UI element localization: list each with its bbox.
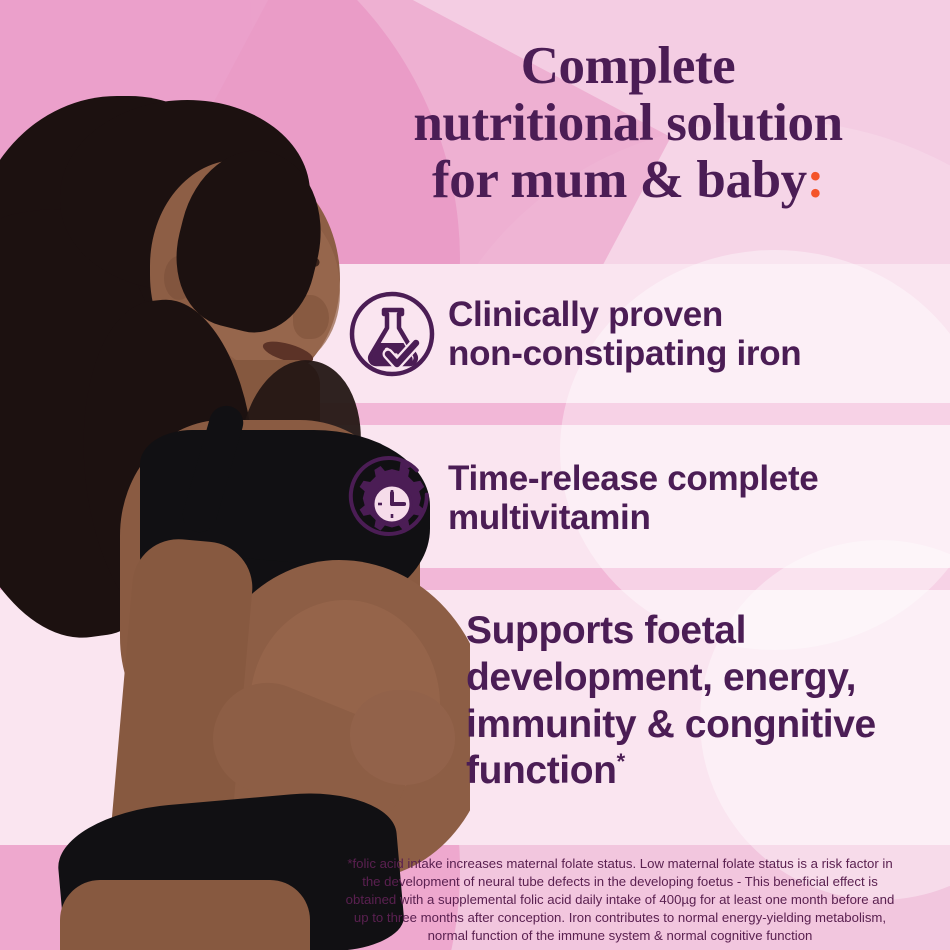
headline-line-3-wrap: for mum & baby: [330, 152, 926, 209]
headline: Complete nutritional solution for mum & … [330, 38, 926, 210]
headline-line-1: Complete [330, 38, 926, 95]
feature-row-2: Time-release complete multivitamin [336, 436, 936, 560]
feature-1-text: Clinically proven non-constipating iron [448, 295, 801, 373]
footnote-line-4: up to three months after conception. Iro… [296, 909, 944, 927]
footnote-line-5: normal function of the immune system & n… [296, 927, 944, 945]
feature-2-line-1: Time-release complete [448, 459, 818, 498]
footnote-line-3: obtained with a supplemental folic acid … [296, 891, 944, 909]
flask-check-icon [336, 286, 448, 382]
feature-3-line-3: immunity & congnitive [466, 702, 934, 749]
promo-banner: Complete nutritional solution for mum & … [0, 0, 950, 950]
feature-3-line-4: function [466, 749, 617, 792]
feature-1-line-2: non-constipating iron [448, 334, 801, 373]
feature-row-1: Clinically proven non-constipating iron [336, 272, 936, 396]
feature-3-line-2: development, energy, [466, 655, 934, 702]
footnote-marker: * [617, 749, 625, 774]
feature-3-line-4-wrap: function* [466, 748, 934, 795]
headline-line-2: nutritional solution [330, 95, 926, 152]
footnote-line-1: *folic acid intake increases maternal fo… [296, 855, 944, 873]
headline-colon: : [807, 151, 824, 209]
gear-clock-rotate-icon [336, 450, 448, 546]
feature-3-line-1: Supports foetal [466, 608, 934, 655]
feature-row-3: Supports foetal development, energy, imm… [466, 608, 934, 795]
feature-2-text: Time-release complete multivitamin [448, 459, 818, 537]
footnote-line-2: the development of neural tube defects i… [296, 873, 944, 891]
thigh-shape [60, 880, 310, 950]
feature-2-line-2: multivitamin [448, 498, 818, 537]
headline-line-3: for mum & baby [432, 151, 807, 209]
hand-on-belly [350, 690, 455, 785]
footnote: *folic acid intake increases maternal fo… [296, 855, 944, 945]
feature-1-line-1: Clinically proven [448, 295, 801, 334]
